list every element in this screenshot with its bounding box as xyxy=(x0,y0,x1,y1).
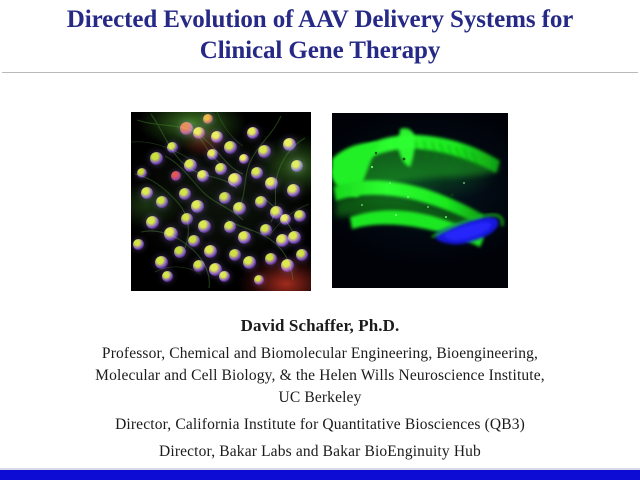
fluorescent-cell xyxy=(181,213,193,225)
affiliation-line-3: UC Berkeley xyxy=(0,387,640,409)
bottom-accent-bar xyxy=(0,468,640,480)
affiliation-line-2: Molecular and Cell Biology, & the Helen … xyxy=(0,365,640,387)
fluorescent-cell xyxy=(265,253,277,265)
fluorescent-cell xyxy=(280,214,291,225)
fluorescent-cell xyxy=(180,122,193,135)
fluorescent-cell xyxy=(251,167,263,179)
fluorescent-cell xyxy=(255,196,267,208)
title-line-1: Directed Evolution of AAV Delivery Syste… xyxy=(0,4,640,35)
fluorescent-cell xyxy=(193,127,205,139)
fluorescent-cell xyxy=(224,221,236,233)
fluorescent-cell xyxy=(207,149,218,160)
fluorescent-cell xyxy=(243,256,256,269)
fluorescent-cell xyxy=(229,249,241,261)
fluorescent-cell xyxy=(141,187,153,199)
fluorescent-cell xyxy=(291,160,303,172)
fluorescent-cell xyxy=(193,260,205,272)
fluorescent-cell xyxy=(211,131,223,143)
fluorescent-cell xyxy=(179,188,191,200)
fluorescent-cell xyxy=(137,168,147,178)
fluorescent-cell xyxy=(133,239,144,250)
fluorescent-cell xyxy=(197,170,209,182)
fluorescent-cell xyxy=(254,275,264,285)
fluorescent-cell xyxy=(174,246,186,258)
fluorescent-cell xyxy=(224,141,237,154)
role-line-1: Director, California Institute for Quant… xyxy=(0,414,640,436)
fluorescent-cell xyxy=(288,231,301,244)
fluorescent-cell xyxy=(171,171,181,181)
fluorescent-cell xyxy=(164,227,178,241)
title-line-2: Clinical Gene Therapy xyxy=(0,35,640,66)
fluorescent-cell xyxy=(287,184,300,197)
role-line-2: Director, Bakar Labs and Bakar BioEnginu… xyxy=(0,441,640,463)
fluorescent-cell xyxy=(265,177,278,190)
fluorescent-cell xyxy=(203,114,213,124)
credits-block: David Schaffer, Ph.D. Professor, Chemica… xyxy=(0,314,640,463)
fluorescent-cell xyxy=(239,154,249,164)
fluorescent-cell xyxy=(228,173,242,187)
fluorescent-cell xyxy=(184,159,197,172)
fluorescent-cell xyxy=(155,256,168,269)
fluorescence-micrograph-hippocampus-gfp xyxy=(332,113,508,288)
fluorescent-cell xyxy=(281,259,294,272)
fluorescent-cell xyxy=(283,138,296,151)
fluorescent-cell xyxy=(156,196,168,208)
fluorescent-cell xyxy=(215,163,227,175)
cells-fluorescent-nuclei xyxy=(131,112,311,291)
fluorescent-cell xyxy=(238,231,251,244)
fluorescent-cell xyxy=(191,200,204,213)
presentation-slide: Directed Evolution of AAV Delivery Syste… xyxy=(0,0,640,480)
affiliation-line-1: Professor, Chemical and Biomolecular Eng… xyxy=(0,343,640,365)
fluorescent-cell xyxy=(247,127,259,139)
fluorescent-cell xyxy=(296,249,308,261)
presenter-name: David Schaffer, Ph.D. xyxy=(0,314,640,338)
fluorescent-cell xyxy=(219,192,231,204)
fluorescent-cell xyxy=(188,235,200,247)
fluorescent-cell xyxy=(219,271,230,282)
title-divider-rule xyxy=(2,72,638,73)
fluorescent-cell xyxy=(198,220,211,233)
fluorescent-cell xyxy=(276,234,289,247)
fluorescent-cell xyxy=(167,142,178,153)
fluorescence-micrograph-transduced-cells xyxy=(131,112,311,291)
fluorescent-cell xyxy=(146,216,159,229)
fluorescent-cell xyxy=(233,202,246,215)
hippocampus-structures xyxy=(332,113,508,288)
slide-title: Directed Evolution of AAV Delivery Syste… xyxy=(0,4,640,66)
fluorescent-cell xyxy=(258,145,271,158)
fluorescent-cell xyxy=(150,152,163,165)
fluorescent-cell xyxy=(204,245,217,258)
fluorescent-cell xyxy=(294,210,306,222)
fluorescent-cell xyxy=(260,224,272,236)
fluorescent-cell xyxy=(162,271,173,282)
